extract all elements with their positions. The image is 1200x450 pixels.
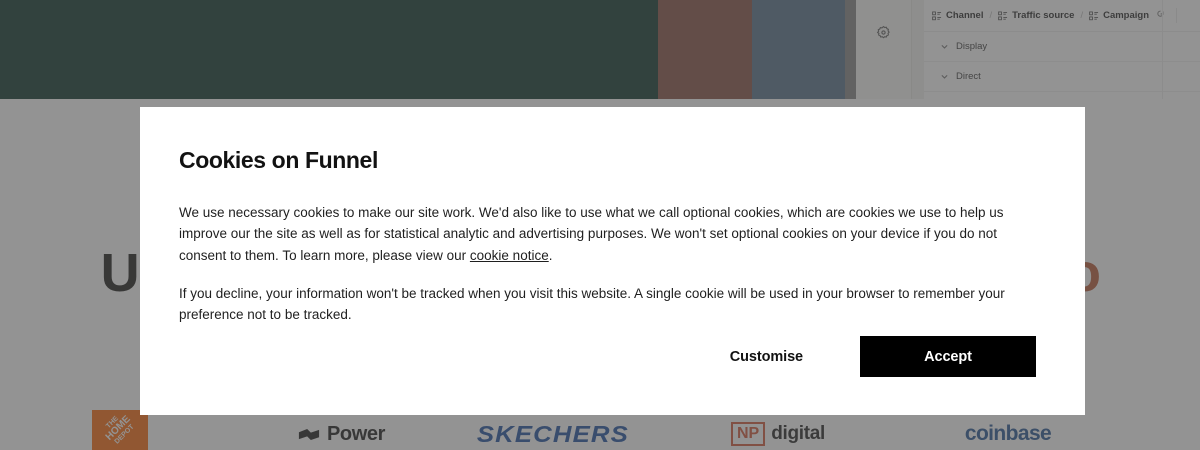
accept-button[interactable]: Accept [860, 336, 1036, 377]
dialog-title: Cookies on Funnel [179, 147, 1025, 174]
page-root: Channel / Traffic source / [0, 0, 1200, 450]
dialog-actions: Customise Accept [730, 336, 1036, 377]
cookie-consent-dialog: Cookies on Funnel We use necessary cooki… [140, 107, 1085, 415]
cookie-notice-link[interactable]: cookie notice [470, 248, 549, 263]
dialog-paragraph-2: If you decline, your information won't b… [179, 283, 1025, 326]
paragraph-1-tail: . [549, 248, 553, 263]
paragraph-1-text: We use necessary cookies to make our sit… [179, 205, 1003, 263]
customise-button[interactable]: Customise [730, 349, 803, 365]
dialog-paragraph-1: We use necessary cookies to make our sit… [179, 202, 1025, 266]
